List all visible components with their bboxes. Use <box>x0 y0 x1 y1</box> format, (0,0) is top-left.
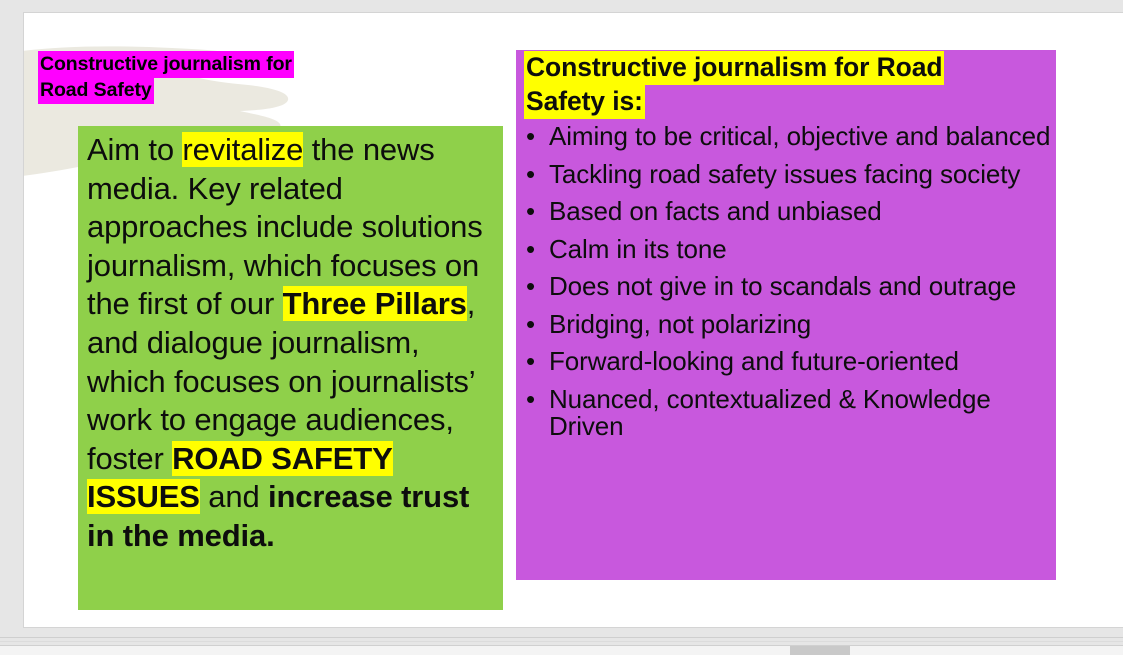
list-item: • Based on facts and unbiased <box>521 198 1069 226</box>
bullet-icon: • <box>526 161 535 189</box>
bullet-icon: • <box>526 348 535 376</box>
list-item: • Forward-looking and future-oriented <box>521 348 1069 376</box>
right-panel-heading-line-2: Safety is: <box>524 85 645 119</box>
left-green-content-box[interactable]: Aim to revitalize the news media. Key re… <box>78 126 503 610</box>
bullet-icon: • <box>526 273 535 301</box>
list-item-label: Nuanced, contextualized & Knowledge Driv… <box>549 384 991 442</box>
list-item: • Calm in its tone <box>521 236 1069 264</box>
text-segment-plain: and <box>200 479 268 514</box>
right-panel-heading[interactable]: Constructive journalism for Road Safety … <box>524 51 1044 118</box>
horizontal-scrollbar[interactable] <box>0 645 1123 655</box>
bullet-icon: • <box>526 311 535 339</box>
list-item-label: Aiming to be critical, objective and bal… <box>549 121 1050 151</box>
text-segment-plain: Aim to <box>87 132 182 167</box>
text-segment-revitalize: revitalize <box>182 132 303 167</box>
presentation-editor: Constructive journalism for Road Safety … <box>0 0 1123 655</box>
list-item: • Does not give in to scandals and outra… <box>521 273 1069 301</box>
bullet-icon: • <box>526 236 535 264</box>
list-item: • Bridging, not polarizing <box>521 311 1069 339</box>
list-item-label: Does not give in to scandals and outrage <box>549 271 1016 301</box>
slide-title-line-2: Road Safety <box>38 77 154 104</box>
list-item-label: Forward-looking and future-oriented <box>549 346 959 376</box>
bullet-icon: • <box>526 123 535 151</box>
slide-title[interactable]: Constructive journalism for Road Safety <box>38 52 368 104</box>
list-item: • Tackling road safety issues facing soc… <box>521 161 1069 189</box>
list-item: • Aiming to be critical, objective and b… <box>521 123 1069 151</box>
bullet-icon: • <box>526 198 535 226</box>
list-item-label: Based on facts and unbiased <box>549 196 882 226</box>
bullet-icon: • <box>526 386 535 414</box>
slide-title-line-1: Constructive journalism for <box>38 51 294 78</box>
slide-surface[interactable]: Constructive journalism for Road Safety … <box>23 12 1123 628</box>
list-item-label: Bridging, not polarizing <box>549 309 811 339</box>
text-segment-three-pillars: Three Pillars <box>283 286 467 321</box>
list-item-label: Calm in its tone <box>549 234 727 264</box>
right-panel-heading-line-1: Constructive journalism for Road <box>524 51 944 85</box>
right-panel-bullet-list[interactable]: • Aiming to be critical, objective and b… <box>521 123 1069 451</box>
list-item-label: Tackling road safety issues facing socie… <box>549 159 1020 189</box>
list-item: • Nuanced, contextualized & Knowledge Dr… <box>521 386 1069 441</box>
slide-canvas-area: Constructive journalism for Road Safety … <box>0 0 1123 636</box>
horizontal-scrollbar-thumb[interactable] <box>790 646 850 655</box>
chrome-divider-top <box>0 637 1123 638</box>
chrome-divider-bottom <box>0 641 1123 642</box>
left-panel-paragraph: Aim to revitalize the news media. Key re… <box>87 131 499 556</box>
